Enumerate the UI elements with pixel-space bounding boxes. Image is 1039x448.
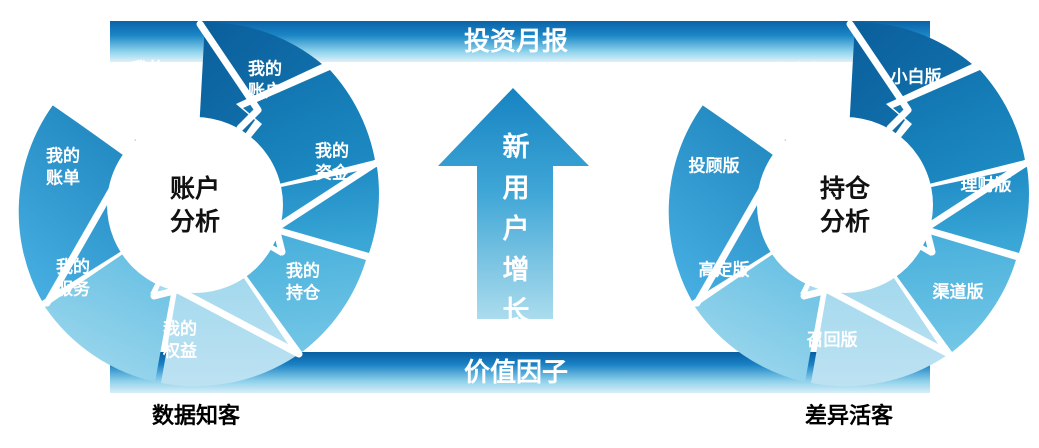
left-label-5-line1: 我的: [56, 256, 90, 276]
right-label-1: 小白版: [891, 66, 942, 86]
right-hub-title-line2: 分析: [820, 208, 870, 236]
right-wheel-footer: 差异活客: [805, 403, 894, 428]
right-label-4: 召回版: [807, 329, 858, 349]
left-wheel-footer: 数据知客: [152, 403, 241, 428]
left-hub-title-line2: 分析: [170, 208, 220, 236]
left-label-0-line2: 自选: [131, 80, 165, 100]
left-label-4-line1: 我的: [163, 318, 197, 338]
right-label-0: 新客版: [775, 60, 826, 80]
left-label-3-line2: 持仓: [286, 282, 321, 302]
left-label-2-line2: 资金: [315, 162, 350, 182]
arrow-label-stack: 新用户增长: [503, 131, 531, 326]
arrow-label-char-4: 长: [503, 296, 531, 326]
left-label-1-line1: 我的: [248, 58, 282, 78]
center-growth-arrow[interactable]: 新用户增长: [438, 88, 589, 326]
left-label-5-line2: 服务: [56, 278, 91, 298]
right-label-5: 高定版: [699, 259, 750, 279]
arrow-label-char-0: 新: [503, 131, 530, 162]
left-label-2-line1: 我的: [315, 140, 349, 160]
right-hub-title-line1: 持仓: [820, 174, 871, 203]
left-label-6-line1: 我的: [46, 145, 80, 165]
top-banner-label: 投资月报: [464, 26, 568, 56]
left-label-3-line1: 我的: [286, 260, 320, 280]
left-hub-title-line1: 账户: [170, 174, 220, 203]
arrow-label-char-3: 增: [503, 254, 530, 285]
arrow-label-char-2: 户: [503, 213, 530, 244]
arrow-label-char-1: 用: [503, 173, 530, 203]
left-label-4-line2: 权益: [162, 340, 197, 360]
infographic-svg: 投资月报 价值因子: [0, 0, 1039, 448]
right-label-3: 渠道版: [932, 281, 984, 301]
right-label-6: 投顾版: [689, 155, 740, 175]
left-label-1-line2: 账户: [248, 80, 282, 100]
bottom-banner-label: 价值因子: [464, 357, 568, 387]
left-hub-circle: [107, 117, 283, 293]
right-label-2: 理财版: [961, 174, 1012, 194]
left-label-6-line2: 账单: [46, 167, 80, 187]
right-hub-circle: [757, 117, 933, 293]
diagram-canvas: 投资月报 价值因子: [0, 0, 1039, 448]
left-label-0-line1: 我的: [131, 58, 165, 78]
